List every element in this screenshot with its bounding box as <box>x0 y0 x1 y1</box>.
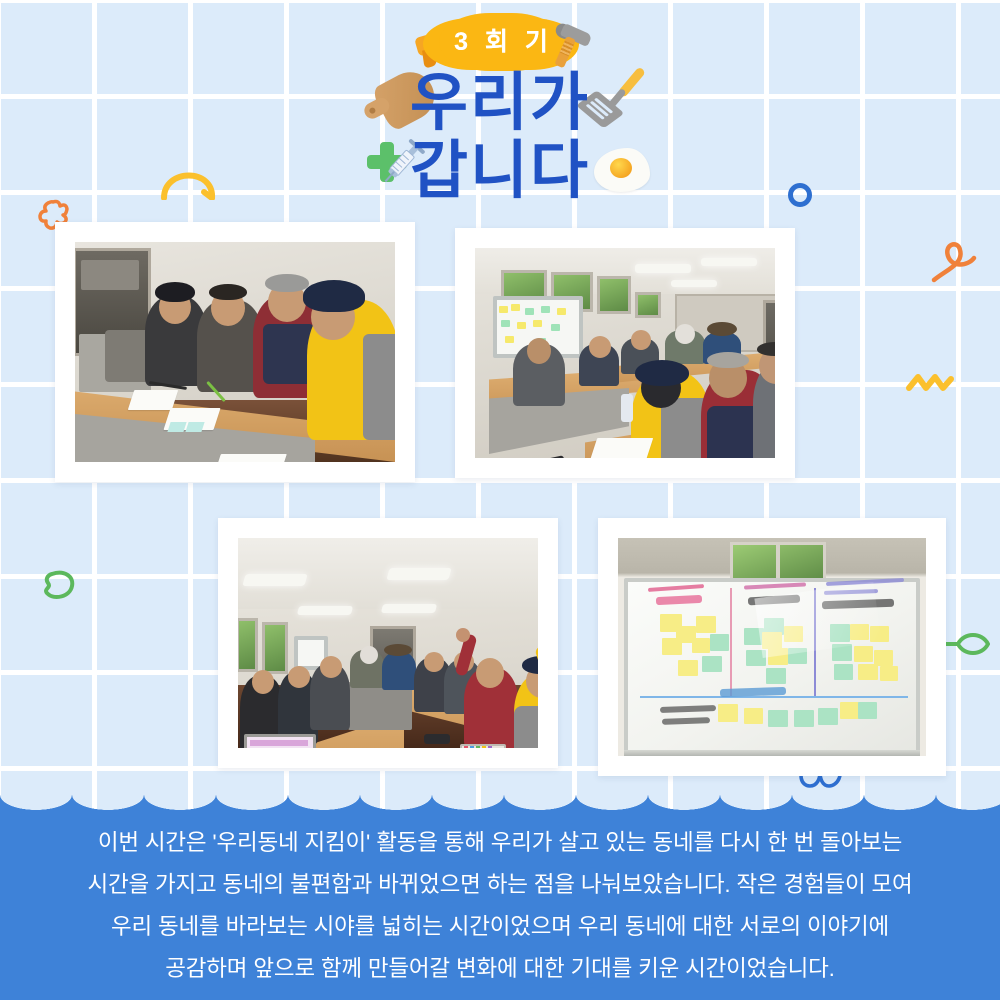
title-line-1: 우리가 <box>0 72 1000 135</box>
banner-line-4: 공감하며 앞으로 함께 만들어갈 변화에 대한 기대를 키운 시간이었습니다. <box>165 948 834 990</box>
photo-frame-4 <box>598 518 946 776</box>
episode-badge-label: 3 회 기 <box>449 30 553 55</box>
promo-card: 3 회 기 <box>0 0 1000 1000</box>
photo-frame-2 <box>455 228 795 478</box>
yellow-arch-doodle <box>160 158 218 200</box>
photo-4 <box>618 538 926 756</box>
green-blob-doodle <box>40 570 76 600</box>
yellow-zigzag-doodle <box>906 372 954 394</box>
banner-line-1: 이번 시간은 '우리동네 지킴이' 활동을 통해 우리가 살고 있는 동네를 다… <box>98 822 902 864</box>
photo-1 <box>75 242 395 462</box>
photo-3 <box>238 538 538 748</box>
photo-2 <box>475 248 775 458</box>
photo-frame-1 <box>55 222 415 482</box>
blue-ring-doodle <box>788 183 812 207</box>
orange-loop-doodle <box>930 236 978 284</box>
banner-line-2: 시간을 가지고 동네의 불편함과 바뀌었으면 하는 점을 나눠보았습니다. 작은… <box>87 864 912 906</box>
green-leaf-doodle <box>942 630 990 658</box>
summary-banner: 이번 시간은 '우리동네 지킴이' 활동을 통해 우리가 살고 있는 동네를 다… <box>0 795 1000 1000</box>
title-line-2: 갑니다 <box>0 140 1000 203</box>
header: 3 회 기 <box>0 0 1000 212</box>
banner-line-3: 우리 동네를 바라보는 시야를 넓히는 시간이었으며 우리 동네에 대한 서로의… <box>111 906 889 948</box>
photo-frame-3 <box>218 518 558 768</box>
